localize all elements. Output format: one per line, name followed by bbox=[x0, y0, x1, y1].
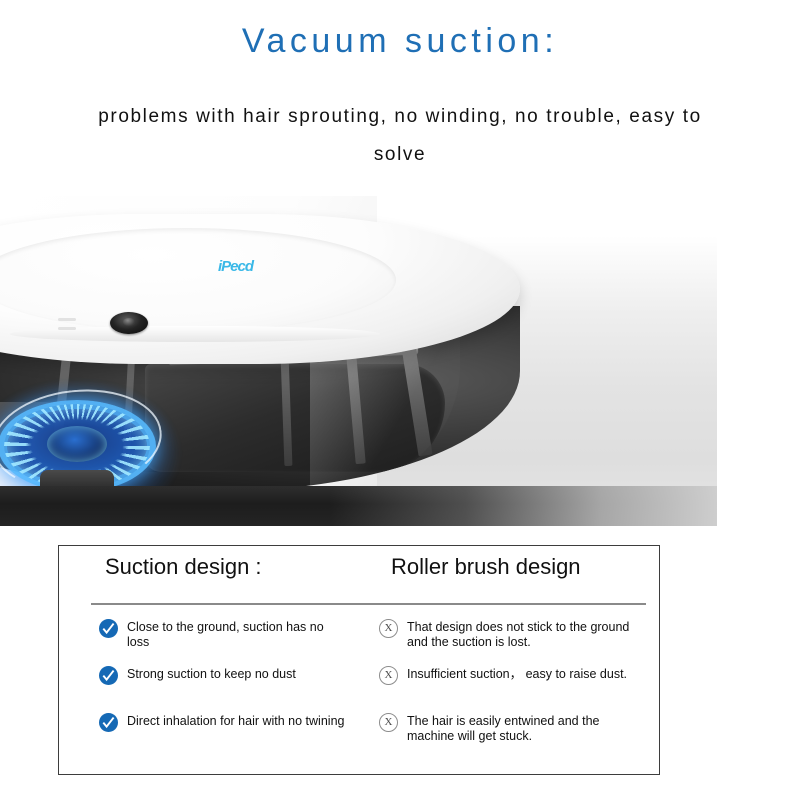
x-icon: X bbox=[379, 619, 398, 638]
column-header-roller-brush-design: Roller brush design bbox=[391, 554, 581, 580]
indicator-led bbox=[58, 327, 76, 330]
roller-brush-text: The hair is easily entwined and the mach… bbox=[407, 713, 639, 744]
header-divider bbox=[91, 603, 646, 605]
roller-brush-cell: X Insufficient suction， easy to raise du… bbox=[379, 666, 639, 685]
comparison-header-row: Suction design : Roller brush design bbox=[59, 554, 661, 598]
top-shell-ring bbox=[0, 228, 396, 332]
page-subtitle: problems with hair sprouting, no winding… bbox=[80, 98, 720, 174]
roller-brush-cell: X The hair is easily entwined and the ma… bbox=[379, 713, 639, 744]
table-row: Close to the ground, suction has no loss… bbox=[59, 619, 661, 666]
brand-logo: iPecd bbox=[218, 254, 252, 280]
roller-brush-text: Insufficient suction， easy to raise dust… bbox=[407, 666, 627, 682]
check-icon bbox=[99, 666, 118, 685]
robot-vacuum-illustration: iPecd bbox=[0, 214, 540, 514]
power-button-icon bbox=[110, 312, 148, 334]
table-row: Strong suction to keep no dust X Insuffi… bbox=[59, 666, 661, 713]
indicator-led bbox=[58, 318, 76, 321]
check-icon bbox=[99, 713, 118, 732]
header-section: Vacuum suction: problems with hair sprou… bbox=[0, 0, 800, 196]
suction-design-text: Strong suction to keep no dust bbox=[127, 666, 296, 682]
comparison-table: Suction design : Roller brush design Clo… bbox=[58, 545, 660, 775]
page-title: Vacuum suction: bbox=[0, 22, 800, 61]
suction-design-cell: Direct inhalation for hair with no twini… bbox=[99, 713, 349, 732]
roller-brush-text: That design does not stick to the ground… bbox=[407, 619, 639, 650]
product-photo: iPecd bbox=[0, 196, 717, 526]
column-header-suction-design: Suction design : bbox=[105, 554, 262, 580]
check-icon bbox=[99, 619, 118, 638]
suction-design-text: Direct inhalation for hair with no twini… bbox=[127, 713, 344, 729]
floor-fade bbox=[330, 486, 717, 526]
comparison-rows: Close to the ground, suction has no loss… bbox=[59, 619, 661, 760]
roller-brush-cell: X That design does not stick to the grou… bbox=[379, 619, 639, 650]
table-row: Direct inhalation for hair with no twini… bbox=[59, 713, 661, 760]
top-shell: iPecd bbox=[0, 214, 520, 364]
suction-design-cell: Strong suction to keep no dust bbox=[99, 666, 349, 685]
x-icon: X bbox=[379, 713, 398, 732]
suction-design-text: Close to the ground, suction has no loss bbox=[127, 619, 349, 650]
suction-design-cell: Close to the ground, suction has no loss bbox=[99, 619, 349, 650]
x-icon: X bbox=[379, 666, 398, 685]
